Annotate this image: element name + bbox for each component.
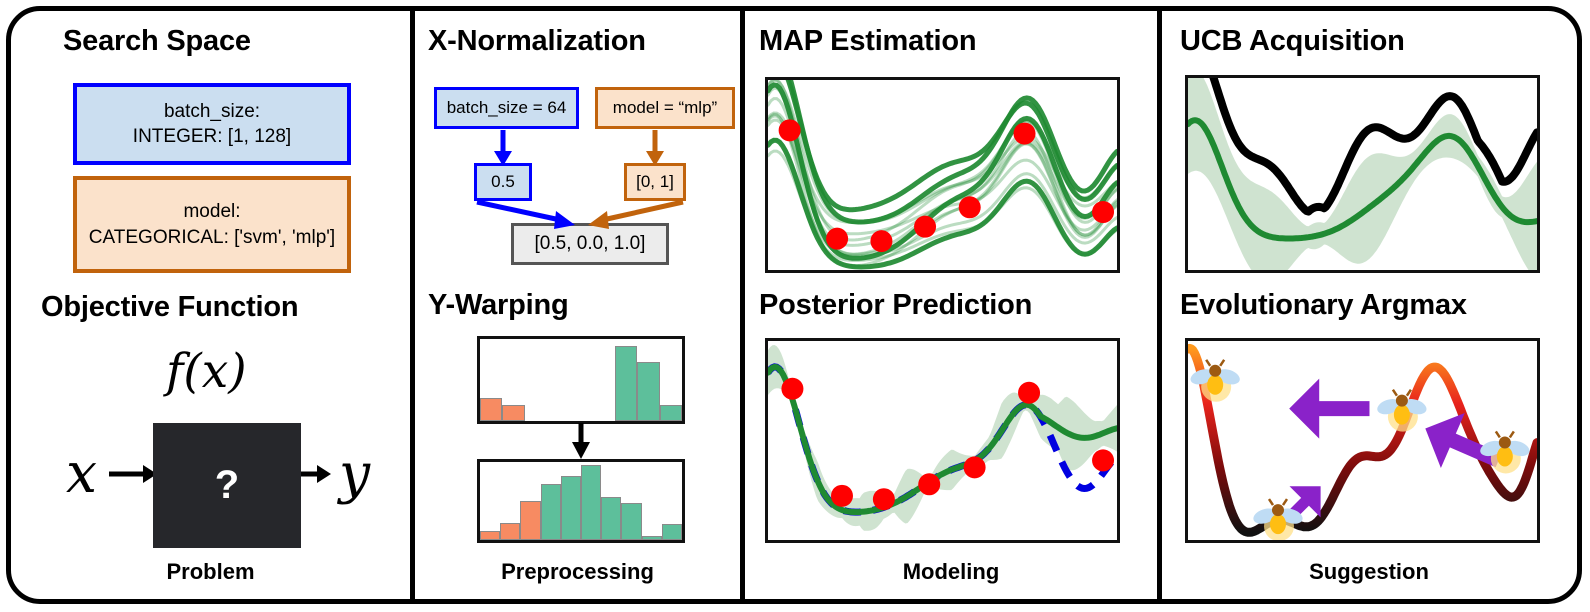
migration-arrow bbox=[1289, 379, 1369, 439]
histogram-bar bbox=[642, 536, 662, 540]
observation-point bbox=[964, 456, 986, 478]
param-name: batch_size: bbox=[164, 99, 260, 124]
landscape-curve bbox=[1188, 348, 1537, 532]
histogram-bar bbox=[541, 484, 561, 540]
section-title-ucb-acquisition: UCB Acquisition bbox=[1180, 25, 1405, 58]
histogram-bar bbox=[660, 405, 682, 421]
firefly-icon[interactable] bbox=[1375, 390, 1428, 432]
plot-posterior-prediction bbox=[765, 338, 1120, 543]
panel-problem: Search Space batch_size: INTEGER: [1, 12… bbox=[11, 11, 410, 599]
objective-black-box[interactable]: ? bbox=[153, 423, 301, 548]
plot-ucb-acquisition bbox=[1185, 75, 1540, 273]
section-title-search-space: Search Space bbox=[63, 25, 251, 58]
observation-point bbox=[918, 473, 940, 495]
observation-point bbox=[870, 230, 892, 252]
confidence-band bbox=[768, 345, 1117, 531]
param-spec: INTEGER: [1, 128] bbox=[133, 124, 291, 149]
section-title-posterior-prediction: Posterior Prediction bbox=[759, 289, 1032, 322]
xnorm-arrows bbox=[415, 71, 740, 271]
histogram-bar bbox=[480, 398, 502, 421]
input-arrow-icon bbox=[109, 463, 157, 485]
panel-suggestion: UCB Acquisition Evolutionary Argmax Sugg… bbox=[1162, 11, 1576, 599]
question-mark-icon: ? bbox=[215, 463, 239, 508]
plot-map-estimation bbox=[765, 77, 1120, 273]
plot-canvas bbox=[1188, 341, 1537, 540]
histogram-bar bbox=[637, 362, 659, 421]
section-title-x-normalization: X-Normalization bbox=[428, 25, 646, 58]
stage-label-modeling: Modeling bbox=[745, 559, 1157, 585]
histogram-bar bbox=[520, 501, 540, 540]
observation-point bbox=[1014, 123, 1036, 145]
histogram-before-warping bbox=[477, 336, 685, 424]
histogram-bar bbox=[500, 523, 520, 540]
objective-output-label: y bbox=[339, 441, 370, 505]
section-title-y-warping: Y-Warping bbox=[428, 289, 569, 322]
observation-point bbox=[959, 196, 981, 218]
histogram-bar bbox=[615, 346, 637, 421]
histogram-bar bbox=[662, 524, 682, 540]
observation-point bbox=[873, 488, 895, 510]
figure-frame: Search Space batch_size: INTEGER: [1, 12… bbox=[6, 6, 1582, 604]
panel-modeling: MAP Estimation Posterior Prediction Mode… bbox=[745, 11, 1157, 599]
plot-canvas bbox=[768, 341, 1117, 540]
section-title-map-estimation: MAP Estimation bbox=[759, 25, 976, 58]
histogram-bar bbox=[480, 531, 500, 540]
search-space-param-batch-size[interactable]: batch_size: INTEGER: [1, 128] bbox=[73, 83, 351, 165]
panel-preprocessing: X-Normalization batch_size = 64 model = … bbox=[415, 11, 740, 599]
plot-canvas bbox=[1188, 78, 1537, 270]
param-name: model: bbox=[183, 199, 240, 224]
stage-label-problem: Problem bbox=[11, 559, 410, 585]
histogram-after-warping bbox=[477, 459, 685, 543]
objective-input-label: x bbox=[66, 441, 97, 505]
plot-evolutionary-argmax bbox=[1185, 338, 1540, 543]
histogram-bar bbox=[601, 497, 621, 540]
observation-point bbox=[914, 216, 936, 238]
stage-label-preprocessing: Preprocessing bbox=[415, 559, 740, 585]
observation-point bbox=[1092, 201, 1114, 223]
param-spec: CATEGORICAL: ['svm', 'mlp'] bbox=[89, 225, 335, 250]
observation-point bbox=[826, 228, 848, 250]
observation-point bbox=[1018, 382, 1040, 404]
histogram-bar bbox=[621, 503, 641, 540]
histogram-bar bbox=[581, 465, 601, 540]
histogram-bar bbox=[502, 405, 524, 421]
section-title-evolutionary-argmax: Evolutionary Argmax bbox=[1180, 289, 1467, 322]
observation-point bbox=[781, 378, 803, 400]
observation-point bbox=[779, 119, 801, 141]
stage-label-suggestion: Suggestion bbox=[1162, 559, 1576, 585]
observation-point bbox=[1092, 449, 1114, 471]
observation-point bbox=[831, 485, 853, 507]
section-title-objective-function: Objective Function bbox=[41, 291, 298, 324]
plot-canvas bbox=[768, 80, 1117, 270]
objective-fx-label: f(x) bbox=[166, 344, 247, 399]
histogram-bar bbox=[561, 476, 581, 540]
warp-arrow-icon bbox=[570, 423, 592, 459]
search-space-param-model[interactable]: model: CATEGORICAL: ['svm', 'mlp'] bbox=[73, 176, 351, 273]
